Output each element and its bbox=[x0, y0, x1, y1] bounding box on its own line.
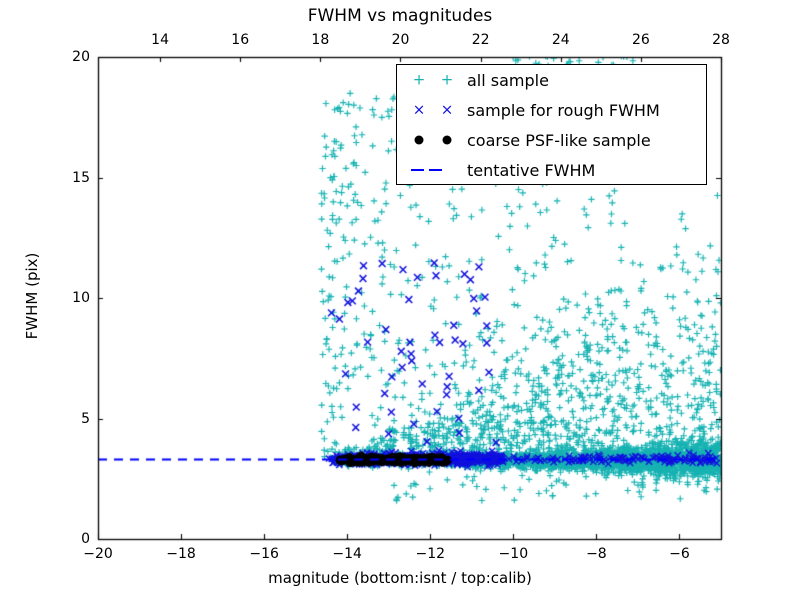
top-tick-label: 22 bbox=[472, 32, 490, 48]
x-tick-label: −10 bbox=[499, 546, 529, 562]
x-tick-label: −12 bbox=[415, 546, 445, 562]
legend-item-rough-fwhm: × × sample for rough FWHM bbox=[397, 95, 708, 125]
x-tick-label: −6 bbox=[669, 546, 690, 562]
x-tick-label: −8 bbox=[586, 546, 607, 562]
legend-label-tentative-fwhm: tentative FWHM bbox=[467, 161, 595, 180]
legend-marker-cross: × × bbox=[397, 95, 467, 125]
legend-label-rough-fwhm: sample for rough FWHM bbox=[467, 101, 660, 120]
legend-label-coarse-psf: coarse PSF-like sample bbox=[467, 131, 651, 150]
x-tick-label: −16 bbox=[249, 546, 279, 562]
top-tick-label: 24 bbox=[552, 32, 570, 48]
legend-marker-dot bbox=[397, 125, 467, 155]
legend-marker-plus: + + bbox=[397, 65, 467, 95]
legend-item-tentative-fwhm: tentative FWHM bbox=[397, 155, 708, 185]
y-tick-label: 20 bbox=[46, 49, 90, 65]
top-tick-label: 28 bbox=[712, 32, 730, 48]
legend: + + all sample × × sample for rough FWHM… bbox=[396, 64, 707, 185]
top-tick-label: 16 bbox=[231, 32, 249, 48]
legend-item-all-sample: + + all sample bbox=[397, 65, 708, 95]
top-tick-label: 26 bbox=[632, 32, 650, 48]
legend-item-coarse-psf: coarse PSF-like sample bbox=[397, 125, 708, 155]
legend-label-all-sample: all sample bbox=[467, 71, 549, 90]
figure-canvas: FWHM vs magnitudes magnitude (bottom:isn… bbox=[0, 0, 800, 600]
top-tick-label: 20 bbox=[392, 32, 410, 48]
y-tick-label: 10 bbox=[46, 290, 90, 306]
legend-marker-dashed-line bbox=[397, 155, 467, 185]
top-tick-label: 14 bbox=[151, 32, 169, 48]
y-axis-label: FWHM (pix) bbox=[23, 216, 41, 376]
y-tick-label: 0 bbox=[46, 531, 90, 547]
x-tick-label: −14 bbox=[332, 546, 362, 562]
x-tick-label: −18 bbox=[166, 546, 196, 562]
top-tick-label: 18 bbox=[311, 32, 329, 48]
chart-title: FWHM vs magnitudes bbox=[0, 6, 800, 26]
y-tick-label: 15 bbox=[46, 170, 90, 186]
x-axis-label: magnitude (bottom:isnt / top:calib) bbox=[0, 569, 800, 587]
y-tick-label: 5 bbox=[46, 411, 90, 427]
x-tick-label: −20 bbox=[83, 546, 113, 562]
